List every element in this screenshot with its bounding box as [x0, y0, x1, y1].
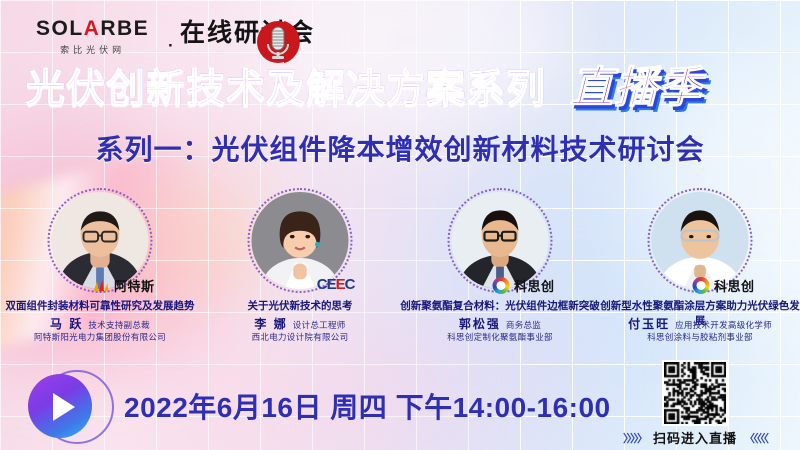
speaker-org: 科思创涂料与胶粘剂事业部 — [600, 331, 800, 343]
play-button-icon[interactable] — [28, 368, 102, 442]
speaker-org: 阿特斯阳光电力集团股份有限公司 — [0, 331, 200, 343]
speaker-photo — [452, 192, 549, 289]
brand-word-part2: RBE — [100, 17, 149, 40]
company-logo-label: 科思创 — [714, 276, 755, 295]
qr-caption-row: 〉〉〉〉〉 扫码进入直播 〈〈〈〈〈 — [610, 428, 780, 447]
speaker-role: 应用技术开发高级化学师 — [675, 320, 772, 330]
webinar-poster: SOLARBE 索比光伏网 · 在线研讨会 光伏创新技术及解决方案系列 直播季 … — [0, 0, 800, 450]
qr-block: 〉〉〉〉〉 扫码进入直播 〈〈〈〈〈 — [610, 360, 780, 450]
speaker-photo — [252, 192, 349, 289]
arrows-right-icon: 〈〈〈〈〈 — [744, 430, 767, 446]
speaker-name: 郭松强 — [459, 317, 501, 331]
speaker-org: 科思创定制化聚氨酯事业部 — [400, 331, 600, 343]
microphone-icon — [254, 16, 306, 68]
speaker-role: 商务总监 — [506, 320, 541, 330]
speaker-org: 西北电力设计院有限公司 — [200, 331, 400, 343]
live-season-title: 直播季 — [570, 64, 702, 113]
header-separator: · — [168, 36, 174, 56]
speaker-card: CEEC 关于光伏新技术的思考 李 娜设计总工程师 西北电力设计院有限公司 — [200, 188, 400, 348]
company-logo-label: 阿特斯 — [114, 276, 155, 295]
speaker-name: 马 跃 — [50, 317, 83, 331]
avatar: 科思创 — [448, 188, 553, 293]
speaker-role: 技术支持副总裁 — [88, 320, 150, 330]
page-title: 光伏创新技术及解决方案系列 — [26, 68, 546, 113]
speaker-card: 科思创 创新聚氨酯复合材料：光伏组件边框新突破 郭松强商务总监 科思创定制化聚氨… — [400, 188, 600, 348]
speakers-row: 阿特斯 双面组件封装材料可靠性研究及发展趋势 马 跃技术支持副总裁 阿特斯阳光电… — [0, 188, 800, 348]
play-triangle — [53, 393, 75, 421]
company-logo-canadian-solar: 阿特斯 — [92, 276, 155, 295]
header: SOLARBE 索比光伏网 · 在线研讨会 — [0, 0, 800, 70]
company-logo-label: CEEC — [317, 276, 355, 293]
solarbe-logo: SOLARBE 索比光伏网 — [36, 18, 149, 56]
speaker-topic: 创新聚氨酯复合材料：光伏组件边框新突破 — [400, 298, 600, 313]
covestro-ring-icon — [493, 277, 510, 294]
avatar: CEEC — [248, 188, 353, 293]
brand-word-part1: SOL — [36, 17, 84, 40]
title-row: 光伏创新技术及解决方案系列 直播季 — [0, 66, 800, 122]
speaker-card: 阿特斯 双面组件封装材料可靠性研究及发展趋势 马 跃技术支持副总裁 阿特斯阳光电… — [0, 188, 200, 348]
speaker-name: 李 娜 — [254, 317, 287, 331]
speaker-name: 付玉旺 — [628, 317, 670, 331]
company-logo-label: 科思创 — [514, 276, 555, 295]
speaker-topic: 双面组件封装材料可靠性研究及发展趋势 — [0, 298, 200, 313]
qr-code[interactable] — [662, 360, 728, 426]
covestro-ring-icon — [693, 277, 710, 294]
speaker-photo — [52, 192, 149, 289]
avatar: 阿特斯 — [48, 188, 153, 293]
event-datetime: 2022年6月16日 周四 下午14:00-16:00 — [124, 386, 611, 426]
arrows-left-icon: 〉〉〉〉〉 — [623, 430, 646, 446]
speaker-topic: 关于光伏新技术的思考 — [200, 298, 400, 313]
avatar: 科思创 — [648, 188, 753, 293]
company-logo-covestro: 科思创 — [493, 276, 555, 295]
company-logo-covestro: 科思创 — [693, 276, 755, 295]
sun-rays-icon — [92, 279, 110, 293]
qr-caption: 扫码进入直播 — [653, 428, 737, 447]
bottom-bar: 2022年6月16日 周四 下午14:00-16:00 〉〉〉〉〉 扫码进入直播… — [0, 360, 800, 450]
speaker-role: 设计总工程师 — [293, 320, 346, 330]
company-logo-ceec: CEEC — [317, 276, 355, 293]
brand-subtitle-cn: 索比光伏网 — [36, 43, 149, 56]
brand-word-accent: A — [84, 17, 101, 40]
brand-wordmark: SOLARBE — [36, 18, 149, 39]
speaker-photo — [652, 192, 749, 289]
page-subtitle: 系列一：光伏组件降本增效创新材料技术研讨会 — [0, 128, 800, 168]
speaker-card: 科思创 创新型水性聚氨酯涂层方案助力光伏绿色发展 付玉旺应用技术开发高级化学师 … — [600, 188, 800, 348]
